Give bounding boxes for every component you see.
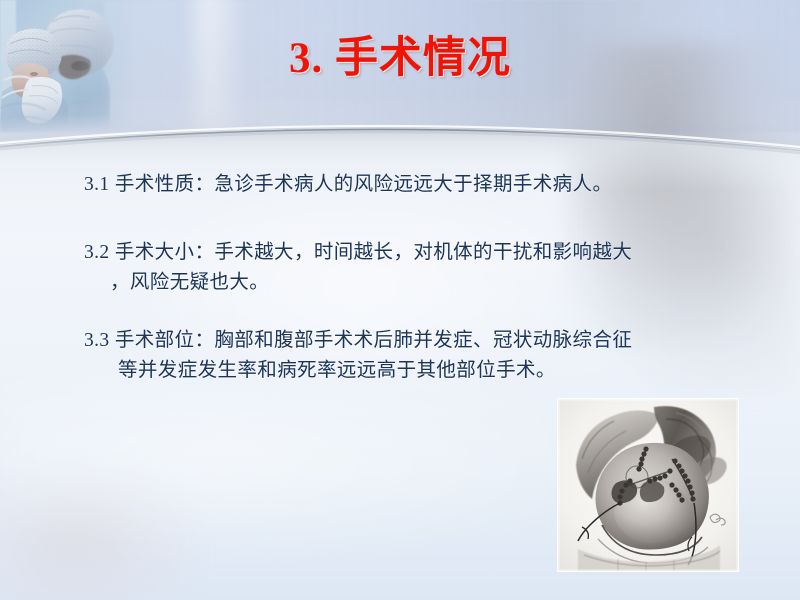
bullet-3-3-line-1: 3.3 手术部位：胸部和腹部手术术后肺并发症、冠状动脉综合征 bbox=[84, 330, 632, 351]
surgical-illustration bbox=[558, 399, 738, 571]
bullet-3-1-line-1: 3.1 手术性质：急诊手术病人的风险远远大于择期手术病人。 bbox=[84, 174, 612, 195]
bullet-3-3: 3.3 手术部位：胸部和腹部手术术后肺并发症、冠状动脉综合征 等并发症发生率和病… bbox=[84, 326, 718, 386]
bullet-3-2: 3.2 手术大小：手术越大，时间越长，对机体的干扰和影响越大 ，风险无疑也大。 bbox=[84, 238, 714, 298]
page-title: 3. 手术情况 bbox=[0, 34, 800, 83]
bullet-3-2-line-2: ，风险无疑也大。 bbox=[84, 268, 714, 298]
bullet-3-2-line-1: 3.2 手术大小：手术越大，时间越长，对机体的干扰和影响越大 bbox=[84, 242, 632, 263]
surgical-illustration-artwork bbox=[558, 399, 738, 571]
background-warm-blush bbox=[0, 470, 190, 600]
bullet-3-3-line-2: 等并发症发生率和病死率远远高于其他部位手术。 bbox=[84, 356, 718, 386]
presentation-slide: 3. 手术情况 3.1 手术性质：急诊手术病人的风险远远大于择期手术病人。 3.… bbox=[0, 0, 800, 600]
bullet-3-1: 3.1 手术性质：急诊手术病人的风险远远大于择期手术病人。 bbox=[84, 170, 720, 200]
